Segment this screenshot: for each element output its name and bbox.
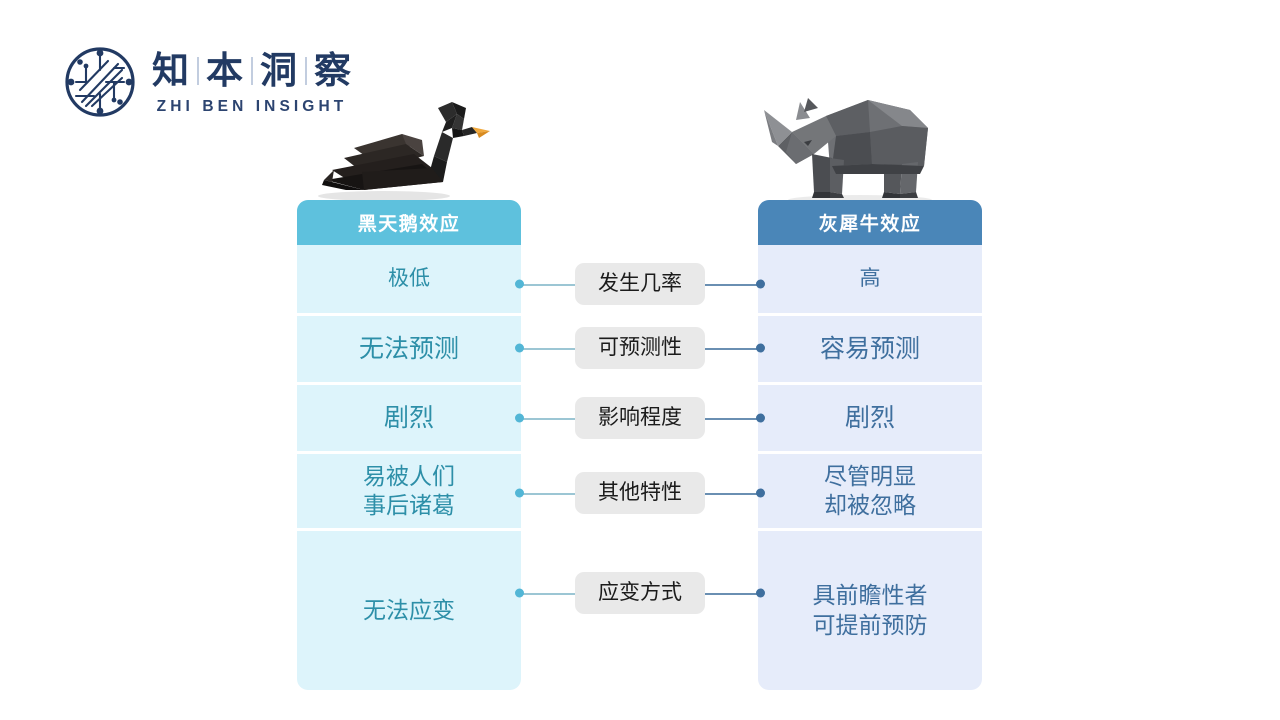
connector-dot-right bbox=[756, 280, 765, 289]
attribute-row-predictability: 可预测性 bbox=[520, 325, 760, 371]
connector-line-right bbox=[704, 348, 762, 350]
column-black-swan: 黑天鹅效应 极低 无法预测 剧烈 易被人们 事后诸葛 无法应变 bbox=[297, 200, 521, 690]
attribute-row-probability: 发生几率 bbox=[520, 261, 760, 307]
connector-line-left bbox=[518, 418, 576, 420]
connector-dot-left bbox=[515, 489, 524, 498]
attribute-label-predictability: 可预测性 bbox=[575, 327, 705, 369]
connector-dot-left bbox=[515, 280, 524, 289]
connector-line-right bbox=[704, 493, 762, 495]
attribute-label-probability: 发生几率 bbox=[575, 263, 705, 305]
connector-line-right bbox=[704, 593, 762, 595]
cell-left-response: 无法应变 bbox=[297, 528, 521, 690]
connector-line-right bbox=[704, 418, 762, 420]
connector-dot-left bbox=[515, 589, 524, 598]
attribute-row-response: 应变方式 bbox=[520, 570, 760, 616]
attribute-label-impact: 影响程度 bbox=[575, 397, 705, 439]
connector-line-left bbox=[518, 284, 576, 286]
cell-right-probability: 高 bbox=[758, 245, 982, 313]
connector-line-left bbox=[518, 593, 576, 595]
column-gray-rhino: 灰犀牛效应 高 容易预测 剧烈 尽管明显 却被忽略 具前瞻性者 可提前预防 bbox=[758, 200, 982, 690]
attribute-row-impact: 影响程度 bbox=[520, 395, 760, 441]
attribute-row-other-traits: 其他特性 bbox=[520, 470, 760, 516]
connector-dot-right bbox=[756, 414, 765, 423]
connector-dot-left bbox=[515, 344, 524, 353]
cell-left-predictability: 无法预测 bbox=[297, 313, 521, 382]
cell-right-response: 具前瞻性者 可提前预防 bbox=[758, 528, 982, 690]
connector-dot-right bbox=[756, 344, 765, 353]
attribute-label-response: 应变方式 bbox=[575, 572, 705, 614]
connector-line-left bbox=[518, 348, 576, 350]
connector-dot-left bbox=[515, 414, 524, 423]
column-body-gray-rhino: 高 容易预测 剧烈 尽管明显 却被忽略 具前瞻性者 可提前预防 bbox=[758, 245, 982, 690]
connector-dot-right bbox=[756, 589, 765, 598]
attribute-label-other-traits: 其他特性 bbox=[575, 472, 705, 514]
cell-left-impact: 剧烈 bbox=[297, 382, 521, 451]
connector-dot-right bbox=[756, 489, 765, 498]
column-body-black-swan: 极低 无法预测 剧烈 易被人们 事后诸葛 无法应变 bbox=[297, 245, 521, 690]
cell-right-predictability: 容易预测 bbox=[758, 313, 982, 382]
cell-right-impact: 剧烈 bbox=[758, 382, 982, 451]
connector-line-left bbox=[518, 493, 576, 495]
comparison-board: 黑天鹅效应 极低 无法预测 剧烈 易被人们 事后诸葛 无法应变 灰犀牛效应 高 … bbox=[0, 0, 1280, 720]
connector-line-right bbox=[704, 284, 762, 286]
cell-left-probability: 极低 bbox=[297, 245, 521, 313]
column-header-black-swan: 黑天鹅效应 bbox=[297, 200, 521, 245]
cell-left-other-traits: 易被人们 事后诸葛 bbox=[297, 451, 521, 528]
cell-right-other-traits: 尽管明显 却被忽略 bbox=[758, 451, 982, 528]
column-header-gray-rhino: 灰犀牛效应 bbox=[758, 200, 982, 245]
